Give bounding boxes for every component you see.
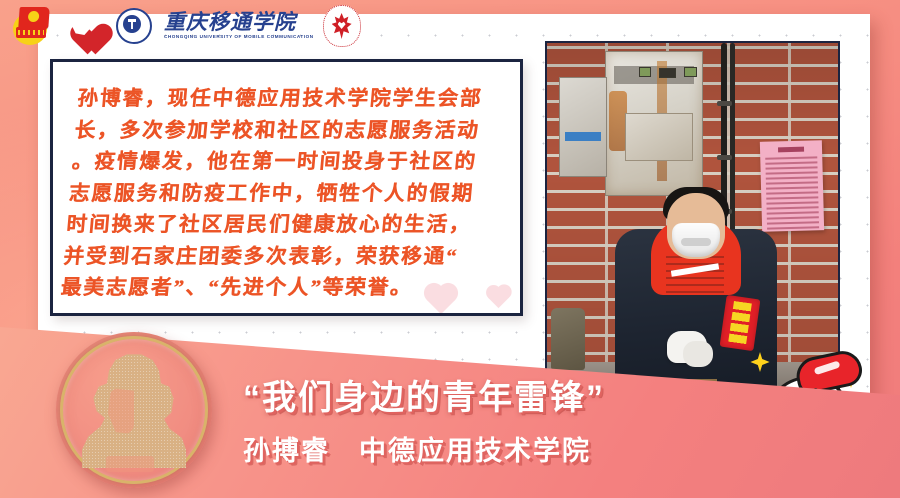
university-name-block: 重庆移通学院 CHONGQING UNIVERSITY OF MOBILE CO… bbox=[164, 12, 314, 40]
white-glove bbox=[683, 341, 713, 367]
story-text: 孙博睿，现任中德应用技术学院学生会部 长，多次参加学校和社区的志愿服务活动 。疫… bbox=[50, 62, 523, 305]
notice-line bbox=[766, 171, 818, 174]
notice-title-bar bbox=[778, 147, 804, 153]
sack-object bbox=[551, 308, 585, 370]
notice-line bbox=[765, 161, 817, 164]
cable-clip bbox=[717, 155, 732, 160]
notice-line bbox=[766, 166, 818, 169]
sub-title: 孙搏睿 中德应用技术学院 bbox=[243, 429, 605, 468]
story-line: 并受到石家庄团委多次表彰，荣获移通“ bbox=[62, 242, 500, 274]
main-title: “我们身边的青年雷锋” bbox=[243, 370, 605, 419]
lei-feng-collar-detail bbox=[106, 456, 154, 472]
university-name-en: CHONGQING UNIVERSITY OF MOBILE COMMUNICA… bbox=[164, 35, 314, 40]
university-seal-icon bbox=[114, 6, 154, 46]
red-maple-seal-icon bbox=[323, 5, 361, 47]
story-line: 长，多次参加学校和社区的志愿服务活动 bbox=[73, 116, 511, 148]
story-line: 。疫情爆发，他在第一时间投身于社区的 bbox=[70, 147, 508, 179]
meter-dial bbox=[659, 68, 676, 78]
notice-line bbox=[766, 181, 818, 184]
volunteer-heart-hand-emblem-icon bbox=[63, 6, 105, 46]
story-line: 志愿服务和防疫工作中，牺牲个人的假期 bbox=[68, 179, 506, 211]
notice-line bbox=[766, 176, 818, 179]
volunteer-photo bbox=[545, 41, 840, 390]
story-line: 最美志愿者”、“先进个人”等荣誉。 bbox=[59, 273, 497, 305]
epidemic-control-armband bbox=[720, 295, 761, 351]
cabinet-panel bbox=[625, 113, 693, 161]
cable-clip bbox=[717, 101, 732, 106]
poster-root: 重庆移通学院 CHONGQING UNIVERSITY OF MOBILE CO… bbox=[0, 0, 900, 498]
lei-feng-silhouette-icon bbox=[82, 352, 186, 468]
story-line: 时间换来了社区居民们健康放心的生活， bbox=[65, 210, 503, 242]
face-mask bbox=[672, 223, 720, 257]
meter-dial bbox=[684, 67, 697, 77]
story-text-box: 孙博睿，现任中德应用技术学院学生会部 长，多次参加学校和社区的志愿服务活动 。疫… bbox=[50, 59, 523, 316]
header-logo-bar: 重庆移通学院 CHONGQING UNIVERSITY OF MOBILE CO… bbox=[10, 4, 361, 48]
cyl-flag-shape bbox=[18, 7, 50, 29]
lei-feng-portrait bbox=[56, 332, 212, 488]
story-line: 孙博睿，现任中德应用技术学院学生会部 bbox=[76, 84, 514, 116]
seal-core-shape bbox=[123, 15, 141, 33]
meter-dial bbox=[639, 67, 651, 77]
banner-title-block: “我们身边的青年雷锋” 孙搏睿 中德应用技术学院 bbox=[243, 370, 605, 468]
university-name-cn: 重庆移通学院 bbox=[164, 12, 314, 33]
electric-meter-box bbox=[559, 77, 607, 177]
notice-line bbox=[765, 156, 817, 159]
cyl-band-shape bbox=[16, 27, 46, 38]
notice-line bbox=[766, 186, 818, 189]
communist-youth-league-emblem-icon bbox=[10, 5, 54, 47]
